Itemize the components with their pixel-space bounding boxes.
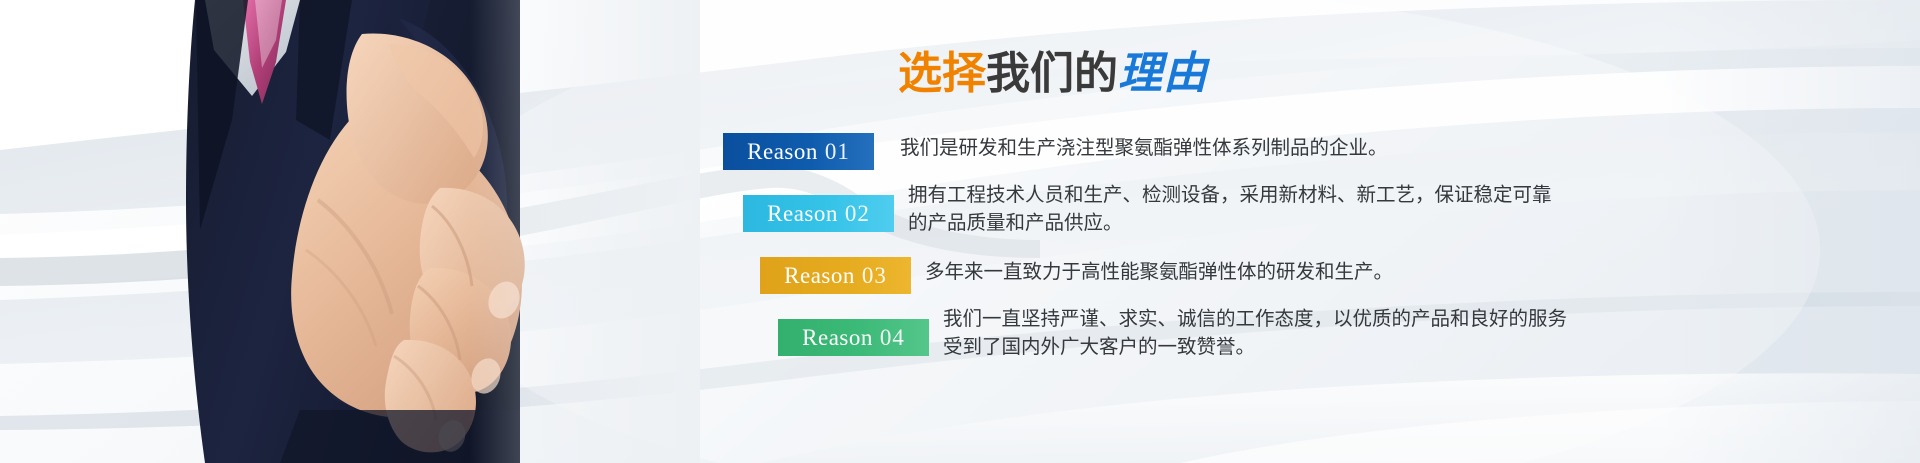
banner-content: 选择我们的理由 Reason 01 我们是研发和生产浇注型聚氨酯弹性体系列制品的…	[0, 0, 1920, 463]
reason-badge-label-4: Reason	[802, 325, 873, 351]
reason-badge-3[interactable]: Reason 03	[760, 257, 911, 294]
reason-badge-number-4: 04	[880, 325, 905, 351]
title-part-orange: 选择	[898, 48, 986, 99]
reason-badge-number-1: 01	[825, 139, 850, 165]
reason-badge-2[interactable]: Reason 02	[743, 195, 894, 232]
reason-description-3: 多年来一直致力于高性能聚氨酯弹性体的研发和生产。	[925, 258, 1393, 286]
why-choose-us-banner: 选择我们的理由 Reason 01 我们是研发和生产浇注型聚氨酯弹性体系列制品的…	[0, 0, 1920, 463]
reason-badge-label-1: Reason	[747, 139, 818, 165]
reason-badge-label-2: Reason	[767, 201, 838, 227]
reason-description-2: 拥有工程技术人员和生产、检测设备，采用新材料、新工艺，保证稳定可靠 的产品质量和…	[908, 181, 1552, 237]
reason-badge-1[interactable]: Reason 01	[723, 133, 874, 170]
reason-badge-4[interactable]: Reason 04	[778, 319, 929, 356]
reason-description-1: 我们是研发和生产浇注型聚氨酯弹性体系列制品的企业。	[900, 134, 1388, 162]
reason-badge-number-3: 03	[862, 263, 887, 289]
title-part-dark: 我们的	[986, 48, 1118, 99]
reason-description-4: 我们一直坚持严谨、求实、诚信的工作态度，以优质的产品和良好的服务 受到了国内外广…	[943, 305, 1567, 361]
reason-badge-label-3: Reason	[784, 263, 855, 289]
page-title: 选择我们的理由	[898, 50, 1208, 98]
title-part-blue: 理由	[1118, 48, 1208, 99]
reason-badge-number-2: 02	[845, 201, 870, 227]
